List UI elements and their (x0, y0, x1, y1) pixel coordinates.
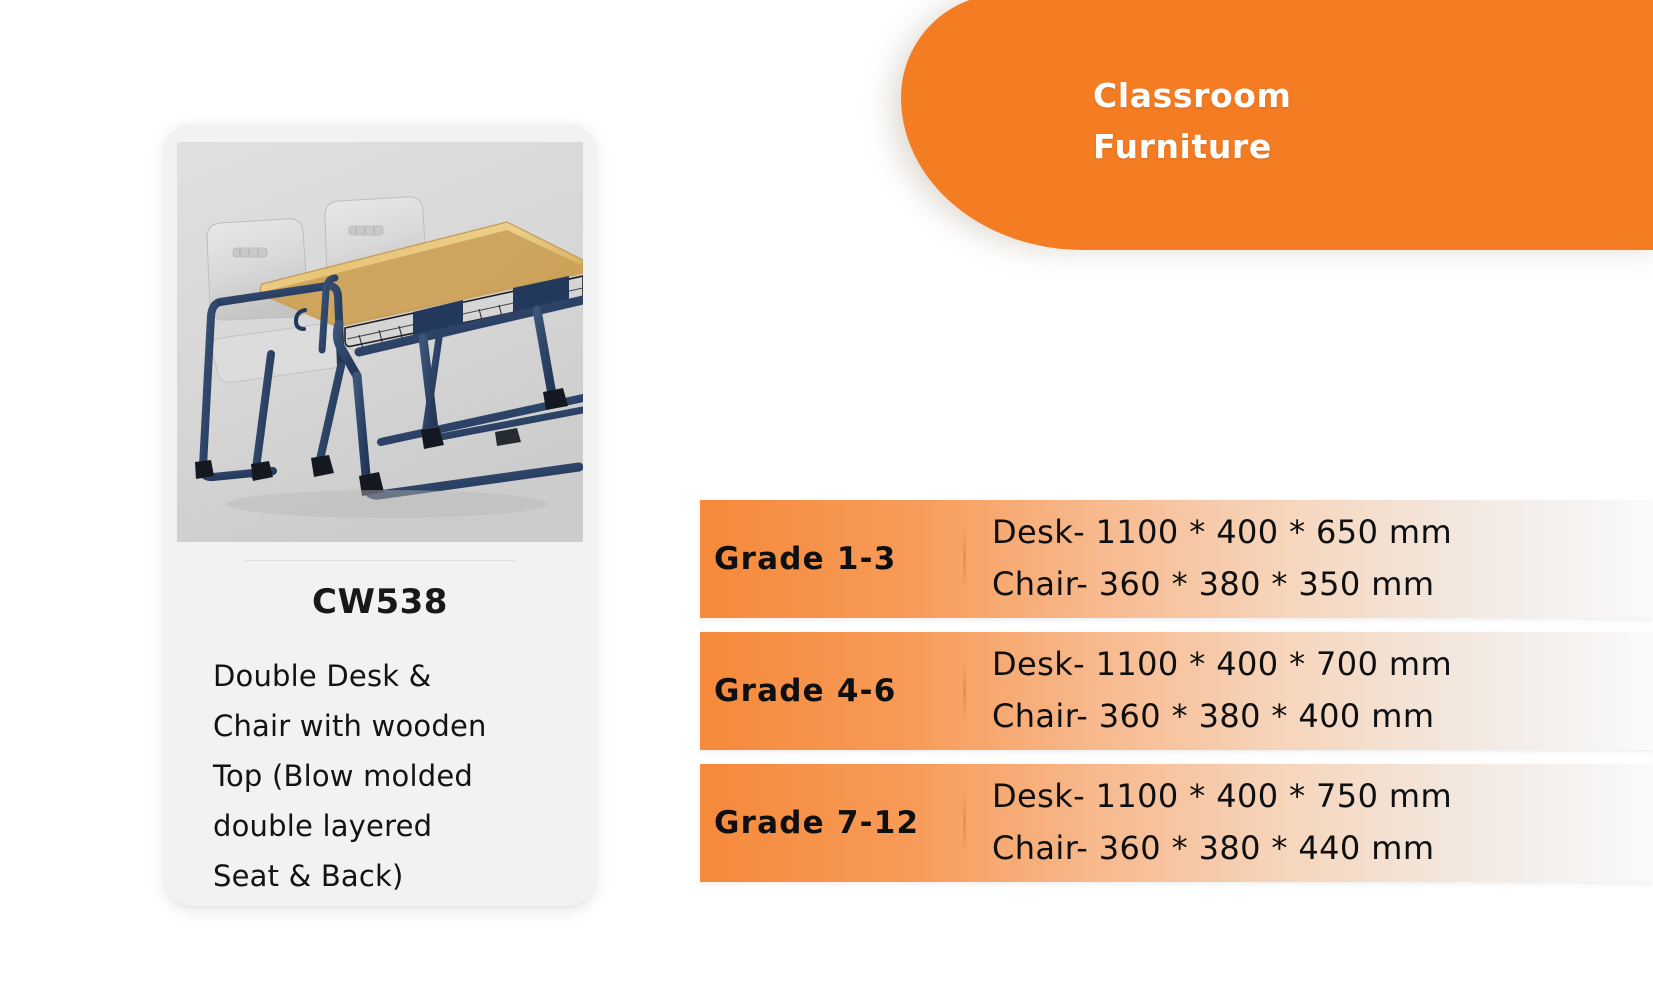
grade-label: Grade 4-6 (700, 632, 963, 750)
table-row: Grade 7-12 Desk- 1100 * 400 * 750 mm Cha… (700, 764, 1653, 882)
product-code: CW538 (165, 582, 595, 622)
product-description: Double Desk & Chair with wooden Top (Blo… (213, 652, 563, 901)
chair-dimension: Chair- 360 * 380 * 350 mm (992, 559, 1653, 611)
dimensions-cell: Desk- 1100 * 400 * 700 mm Chair- 360 * 3… (966, 632, 1653, 750)
header-title-line-2: Furniture (1093, 121, 1513, 172)
product-description-line: double layered (213, 809, 432, 843)
header-title-line-1: Classroom (1093, 70, 1513, 121)
chair-dimension: Chair- 360 * 380 * 400 mm (992, 691, 1653, 743)
dimensions-cell: Desk- 1100 * 400 * 750 mm Chair- 360 * 3… (966, 764, 1653, 882)
product-photo (177, 142, 583, 542)
product-description-line: Top (Blow molded (213, 759, 473, 793)
desk-dimension: Desk- 1100 * 400 * 750 mm (992, 771, 1653, 823)
product-card[interactable]: CW538 Double Desk & Chair with wooden To… (165, 124, 595, 906)
double-desk-and-chair-illustration (177, 142, 583, 542)
desk-dimension: Desk- 1100 * 400 * 700 mm (992, 639, 1653, 691)
card-divider (245, 560, 515, 561)
product-description-line: Chair with wooden (213, 709, 487, 743)
chair-dimension: Chair- 360 * 380 * 440 mm (992, 823, 1653, 875)
header-banner: Classroom Furniture (873, 0, 1653, 262)
header-title: Classroom Furniture (1093, 70, 1513, 172)
table-row: Grade 4-6 Desk- 1100 * 400 * 700 mm Chai… (700, 632, 1653, 750)
desk-dimension: Desk- 1100 * 400 * 650 mm (992, 507, 1653, 559)
product-description-line: Double Desk & (213, 659, 432, 693)
table-row: Grade 1-3 Desk- 1100 * 400 * 650 mm Chai… (700, 500, 1653, 618)
dimensions-cell: Desk- 1100 * 400 * 650 mm Chair- 360 * 3… (966, 500, 1653, 618)
product-description-line: Seat & Back) (213, 859, 404, 893)
grade-label: Grade 7-12 (700, 764, 963, 882)
specification-table: Grade 1-3 Desk- 1100 * 400 * 650 mm Chai… (700, 500, 1653, 882)
grade-label: Grade 1-3 (700, 500, 963, 618)
